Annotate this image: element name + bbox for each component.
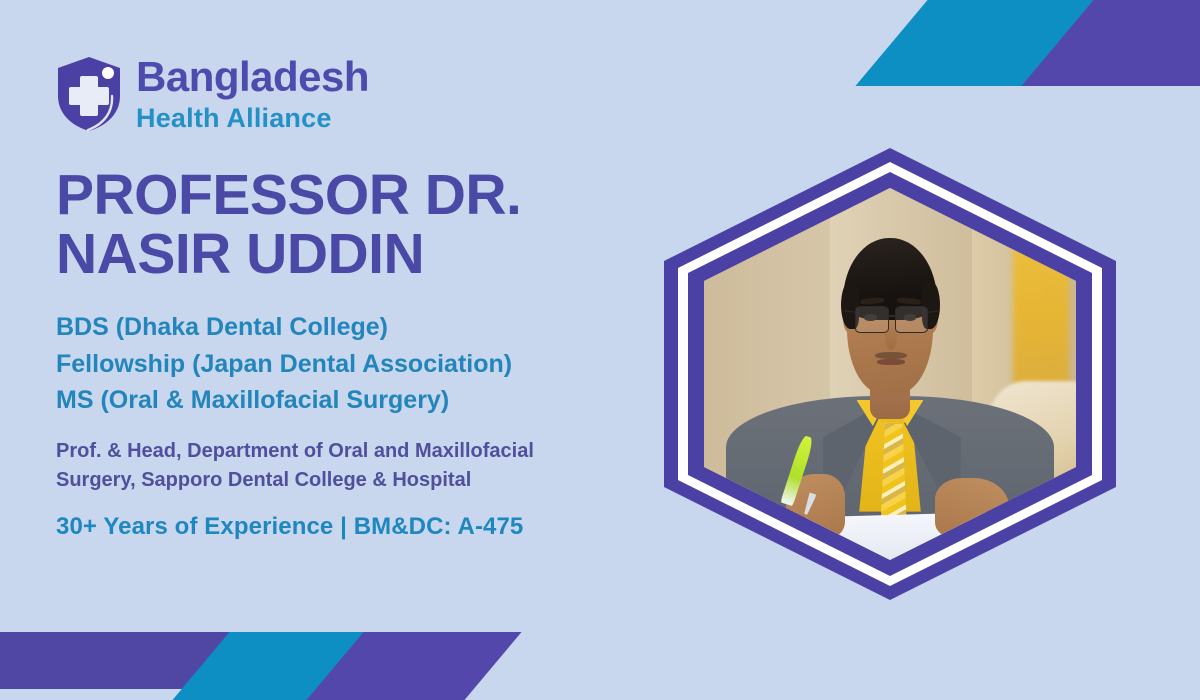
brand-subtitle: Health Alliance bbox=[136, 105, 369, 132]
position-line-1: Prof. & Head, Department of Oral and Max… bbox=[56, 437, 676, 466]
decoration-bottom-left-band bbox=[0, 632, 420, 689]
photo-eyeglass-bridge bbox=[889, 315, 895, 316]
brand-logo[interactable]: Bangladesh Health Alliance bbox=[56, 56, 696, 132]
photo-eyeglass-lens-left bbox=[855, 306, 888, 334]
brand-title: Bangladesh bbox=[136, 56, 369, 98]
doctor-name-line-1: PROFESSOR DR. bbox=[56, 166, 696, 225]
qualification-item: Fellowship (Japan Dental Association) bbox=[56, 346, 696, 383]
content-column: Bangladesh Health Alliance PROFESSOR DR.… bbox=[56, 56, 696, 541]
decoration-bottom-left-purple bbox=[296, 632, 521, 700]
decoration-top-right-cyan bbox=[855, 0, 1142, 86]
shield-medical-cross-icon bbox=[56, 56, 122, 132]
position-line-2: Surgery, Sapporo Dental College & Hospit… bbox=[56, 466, 676, 495]
experience-and-registration: 30+ Years of Experience | BM&DC: A-475 bbox=[56, 513, 696, 541]
portrait-frame bbox=[664, 148, 1116, 600]
qualifications-list: BDS (Dhaka Dental College) Fellowship (J… bbox=[56, 309, 696, 419]
decoration-bottom-left-cyan bbox=[162, 632, 389, 700]
doctor-name: PROFESSOR DR. NASIR UDDIN bbox=[56, 166, 696, 283]
photo-mustache bbox=[875, 352, 907, 359]
photo-eyeglass-lens-right bbox=[895, 306, 928, 334]
qualification-item: BDS (Dhaka Dental College) bbox=[56, 309, 696, 346]
decoration-top-right-purple bbox=[1021, 0, 1200, 86]
doctor-position: Prof. & Head, Department of Oral and Max… bbox=[56, 437, 676, 495]
doctor-profile-banner: Bangladesh Health Alliance PROFESSOR DR.… bbox=[0, 0, 1200, 700]
doctor-name-line-2: NASIR UDDIN bbox=[56, 225, 696, 284]
photo-mouth bbox=[877, 359, 905, 365]
qualification-item: MS (Oral & Maxillofacial Surgery) bbox=[56, 382, 696, 419]
